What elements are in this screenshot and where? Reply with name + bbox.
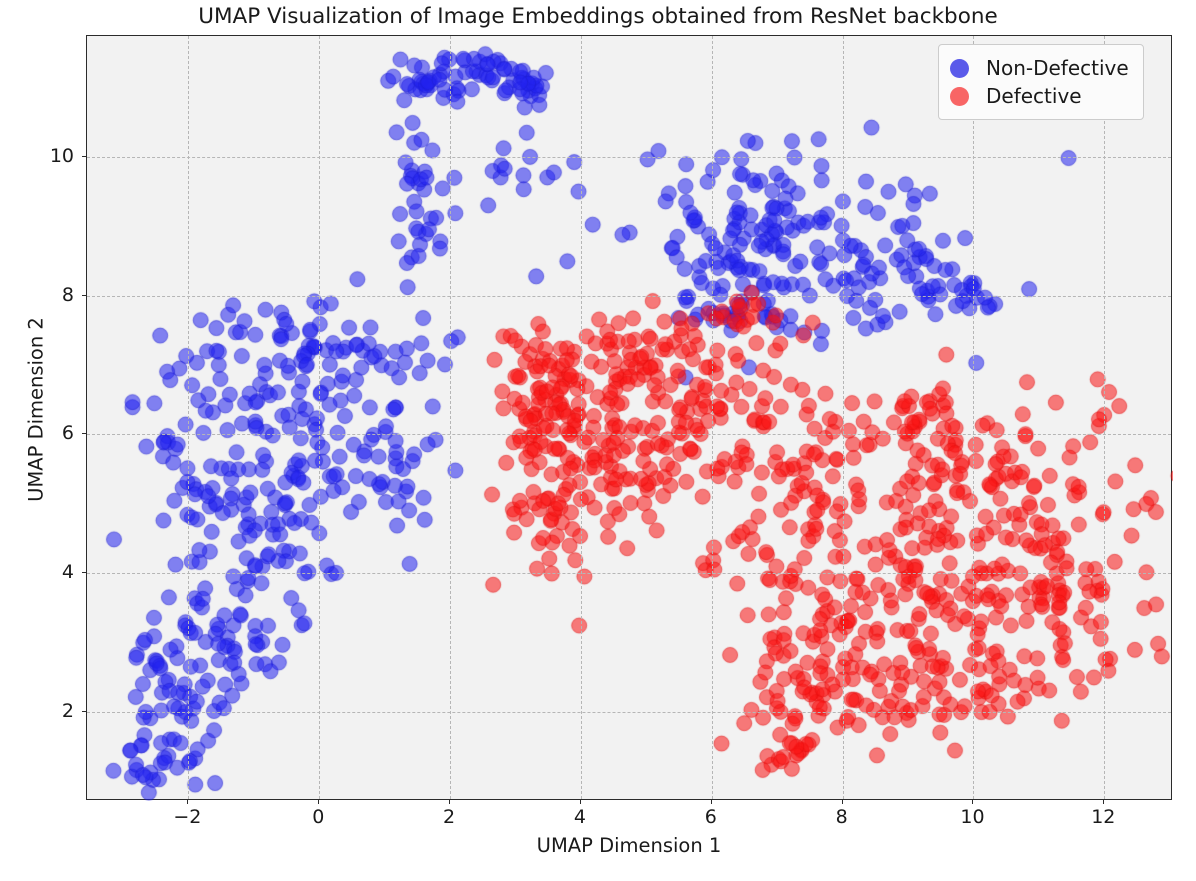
legend-swatch-non-defective [950, 59, 969, 78]
y-tick-label: 4 [62, 561, 74, 583]
x-tick-mark [972, 800, 973, 804]
x-tick-label: 4 [574, 806, 586, 828]
x-tick-label: 0 [312, 806, 324, 828]
x-tick-mark [842, 800, 843, 804]
plot-area [86, 35, 1172, 800]
y-tick-label: 6 [62, 422, 74, 444]
x-tick-mark [711, 800, 712, 804]
umap-scatter-figure: UMAP Visualization of Image Embeddings o… [0, 0, 1196, 881]
x-axis-label: UMAP Dimension 1 [86, 834, 1172, 857]
y-tick-mark [82, 433, 86, 434]
x-tick-label: 10 [960, 806, 984, 828]
x-tick-label: −2 [173, 806, 201, 828]
legend-label-non-defective: Non-Defective [986, 56, 1129, 80]
legend-label-defective: Defective [986, 84, 1082, 108]
scatter-canvas [87, 36, 1173, 801]
y-axis-label: UMAP Dimension 2 [25, 10, 48, 810]
x-tick-mark [1103, 800, 1104, 804]
y-tick-label: 8 [62, 284, 74, 306]
y-tick-mark [82, 295, 86, 296]
legend-item-non-defective[interactable]: Non-Defective [950, 54, 1129, 82]
y-tick-mark [82, 711, 86, 712]
page-title: UMAP Visualization of Image Embeddings o… [0, 4, 1196, 29]
x-tick-mark [580, 800, 581, 804]
x-tick-mark [187, 800, 188, 804]
y-tick-label: 10 [50, 145, 74, 167]
x-tick-mark [449, 800, 450, 804]
legend-swatch-defective [950, 87, 969, 106]
x-tick-label: 2 [443, 806, 455, 828]
y-tick-mark [82, 572, 86, 573]
y-tick-mark [82, 156, 86, 157]
x-tick-label: 6 [705, 806, 717, 828]
x-tick-mark [318, 800, 319, 804]
x-tick-label: 12 [1091, 806, 1115, 828]
x-tick-label: 8 [836, 806, 848, 828]
legend-item-defective[interactable]: Defective [950, 82, 1129, 110]
y-tick-label: 2 [62, 700, 74, 722]
legend: Non-Defective Defective [938, 44, 1144, 120]
